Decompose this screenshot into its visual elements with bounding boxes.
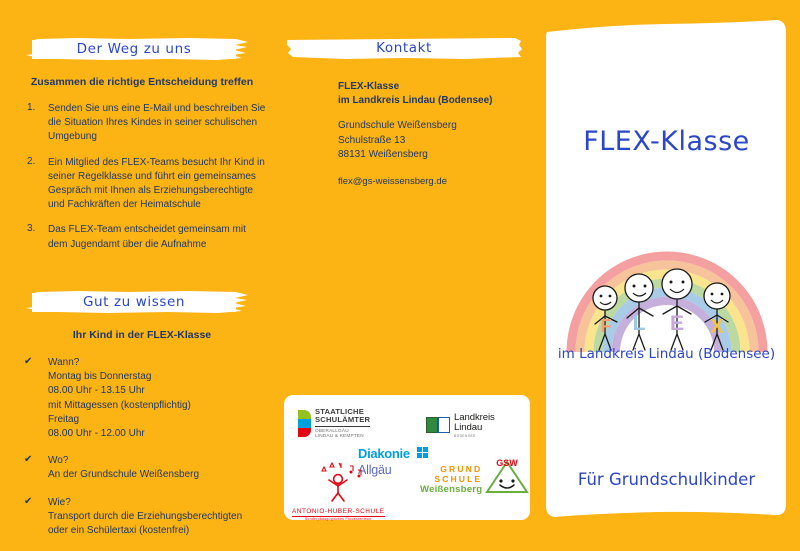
schulaemter-text: STAATLICHE SCHULÄMTER OBERALLGÄU LINDAU … (315, 408, 370, 439)
fact-line: mit Mittagessen (kostenpflichtig) (48, 399, 191, 413)
schulaemter-sub-2: LINDAU & KEMPTEN (315, 433, 370, 439)
ahs-subtitle: Sonderpädagogisches Förderzentrum (292, 517, 385, 521)
fact-block: Wann? Montag bis Donnerstag 08.00 Uhr - … (48, 356, 191, 441)
landkreis-text: Landkreis Lindau BODENSEE (454, 413, 495, 438)
fact-line: Montag bis Donnerstag (48, 370, 191, 384)
fact-question: Wo? (48, 454, 199, 468)
logo-grundschule-weissensberg: GRUND SCHULE Weißensberg GSW (420, 457, 530, 502)
fact-question: Wann? (48, 356, 191, 370)
fact-question: Wie? (48, 496, 242, 510)
partner-logos-card: STAATLICHE SCHULÄMTER OBERALLGÄU LINDAU … (284, 395, 530, 520)
cover-panel: FLEX-Klasse (545, 18, 788, 520)
list-item: ✔ Wo? An der Grundschule Weißensberg (16, 454, 268, 482)
ahs-title: ANTONIO-HUBER-SCHULE (292, 508, 385, 515)
gsw-line-1: GRUND (420, 464, 482, 474)
gsw-line-2: SCHULE (420, 474, 482, 484)
logo-landkreis-lindau: Landkreis Lindau BODENSEE (426, 413, 495, 438)
check-icon: ✔ (16, 496, 48, 539)
step-text: Senden Sie uns eine E-Mail und beschreib… (48, 102, 268, 145)
banner-kontakt: Kontakt (285, 33, 523, 63)
contact-org-line: FLEX-Klasse (338, 80, 538, 94)
contact-block: FLEX-Klasse im Landkreis Lindau (Bodense… (338, 80, 538, 187)
diakonie-title: Diakonie (358, 446, 410, 461)
logo-antonio-huber-schule: ANTONIO-HUBER-SCHULE Sonderpädagogisches… (292, 461, 385, 521)
divider (315, 426, 370, 427)
schulaemter-title-2: SCHULÄMTER (315, 416, 370, 424)
letter-L: L (633, 312, 646, 335)
fact-line: An der Grundschule Weißensberg (48, 468, 199, 482)
contact-email[interactable]: flex@gs-weissensberg.de (338, 176, 538, 187)
banner-label: Der Weg zu uns (18, 34, 250, 64)
fact-block: Wo? An der Grundschule Weißensberg (48, 454, 199, 482)
fact-line: 08.00 Uhr - 13.15 Uhr (48, 384, 191, 398)
gsw-house-icon: GSW (484, 457, 530, 502)
gsw-house-svg: GSW (484, 457, 530, 497)
schulaemter-color-bars-icon (298, 410, 311, 437)
letter-X: X (710, 316, 724, 338)
list-item: 2. Ein Mitglied des FLEX-Teams besucht I… (16, 156, 268, 213)
landkreis-sub: BODENSEE (454, 434, 495, 438)
list-item: 3. Das FLEX-Team entscheidet gemeinsam m… (16, 223, 268, 251)
fact-block: Wie? Transport durch die Erziehungsberec… (48, 496, 242, 539)
contact-org: FLEX-Klasse im Landkreis Lindau (Bodense… (338, 80, 538, 108)
cover-footer: Für Grundschulkinder (545, 470, 788, 489)
check-icon: ✔ (16, 356, 48, 441)
banner-label: Kontakt (285, 33, 523, 63)
brochure-page: Der Weg zu uns Zusammen die richtige Ent… (0, 0, 800, 537)
list-item: ✔ Wann? Montag bis Donnerstag 08.00 Uhr … (16, 356, 268, 441)
landkreis-crest-icon (426, 417, 450, 433)
landkreis-title-2: Lindau (454, 423, 495, 433)
address-line: Grundschule Weißensberg (338, 119, 538, 134)
list-item: ✔ Wie? Transport durch die Erziehungsber… (16, 496, 268, 539)
banner-label: Gut zu wissen (18, 287, 250, 317)
letter-E: E (670, 312, 684, 335)
check-icon: ✔ (16, 454, 48, 482)
ahs-figure-svg (308, 461, 368, 503)
left-subheading: Zusammen die richtige Entscheidung treff… (16, 76, 268, 88)
gsw-text: GRUND SCHULE Weißensberg (420, 464, 482, 495)
address-line: Schulstraße 13 (338, 134, 538, 149)
rainbow-children-svg: F L (565, 226, 769, 354)
fact-line: Freitag (48, 413, 191, 427)
banner-der-weg-zu-uns: Der Weg zu uns (18, 34, 250, 64)
step-number: 3. (16, 223, 48, 251)
fact-line: Transport durch die Erziehungsberechtigt… (48, 510, 242, 524)
logo-staatliche-schulaemter: STAATLICHE SCHULÄMTER OBERALLGÄU LINDAU … (298, 408, 370, 439)
gsw-line-3: Weißensberg (420, 484, 482, 495)
contact-address: Grundschule Weißensberg Schulstraße 13 8… (338, 119, 538, 163)
step-text: Ein Mitglied des FLEX-Teams besucht Ihr … (48, 156, 268, 213)
step-text: Das FLEX-Team entscheidet gemeinsam mit … (48, 223, 268, 251)
letter-F: F (601, 316, 612, 336)
gsw-mark-label: GSW (497, 458, 519, 468)
cover-subtitle: im Landkreis Lindau (Bodensee) (545, 346, 788, 362)
left-column-content: Zusammen die richtige Entscheidung treff… (16, 76, 268, 263)
facts-list: ✔ Wann? Montag bis Donnerstag 08.00 Uhr … (16, 356, 268, 538)
steps-list: 1. Senden Sie uns eine E-Mail und beschr… (16, 102, 268, 252)
address-line: 88131 Weißensberg (338, 148, 538, 163)
rainbow-children-illustration: F L (565, 226, 769, 354)
banner-gut-zu-wissen: Gut zu wissen (18, 287, 250, 317)
cover-title: FLEX-Klasse (545, 126, 788, 157)
list-item: 1. Senden Sie uns eine E-Mail und beschr… (16, 102, 268, 145)
contact-org-line: im Landkreis Lindau (Bodensee) (338, 94, 538, 108)
ahs-text: ANTONIO-HUBER-SCHULE Sonderpädagogisches… (292, 508, 385, 521)
step-number: 2. (16, 156, 48, 213)
left-column-facts: Ihr Kind in der FLEX-Klasse ✔ Wann? Mont… (16, 329, 268, 551)
step-number: 1. (16, 102, 48, 145)
fact-line: oder ein Schülertaxi (kostenfrei) (48, 524, 242, 538)
ahs-figure-icon (292, 461, 385, 508)
fact-line: 08.00 Uhr - 12.00 Uhr (48, 427, 191, 441)
facts-subheading: Ihr Kind in der FLEX-Klasse (16, 329, 268, 341)
